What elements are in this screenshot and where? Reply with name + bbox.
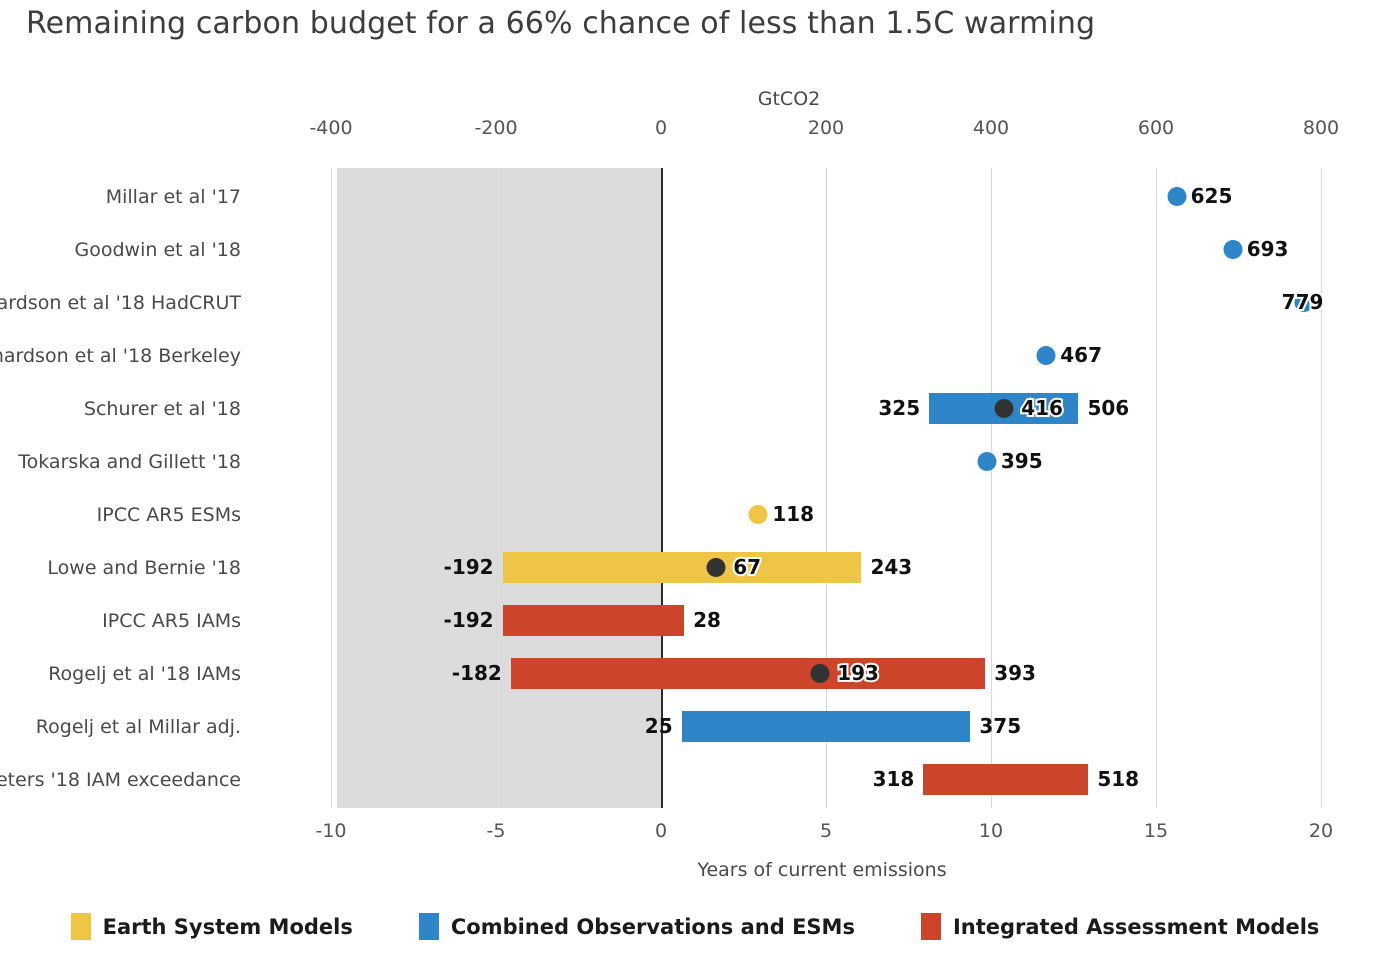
bottom-axis-tick: -10	[315, 820, 346, 842]
estimate-dot[interactable]	[1167, 187, 1186, 206]
estimate-value: 779	[1282, 290, 1324, 314]
category-label: Peters '18 IAM exceedance	[0, 769, 241, 791]
category-label: IPCC AR5 ESMs	[0, 504, 241, 526]
bottom-axis-tick: 5	[820, 820, 832, 842]
legend-swatch-icon	[71, 913, 91, 940]
carbon-budget-chart: Remaining carbon budget for a 66% chance…	[0, 0, 1390, 974]
chart-row[interactable]: IPCC AR5 IAMs-19228	[337, 594, 1308, 647]
legend-item-iam[interactable]: Integrated Assessment Models	[921, 913, 1319, 940]
category-label: IPCC AR5 IAMs	[0, 610, 241, 632]
chart-row[interactable]: IPCC AR5 ESMs118	[337, 488, 1308, 541]
estimate-dot[interactable]	[977, 452, 996, 471]
estimate-value: 118	[772, 502, 814, 526]
category-label: Schurer et al '18	[0, 398, 241, 420]
bottom-axis-tick: 15	[1144, 820, 1168, 842]
estimate-value: 693	[1247, 237, 1289, 261]
top-axis-tick: 200	[808, 117, 844, 139]
range-low-value: -182	[452, 661, 502, 685]
central-estimate-value: 67	[733, 555, 761, 579]
range-bar[interactable]	[511, 658, 985, 689]
legend-label: Integrated Assessment Models	[953, 915, 1319, 939]
range-bar[interactable]	[923, 764, 1088, 795]
plot-area: Millar et al '17625Goodwin et al '18693R…	[337, 168, 1308, 808]
range-bar[interactable]	[682, 711, 971, 742]
legend-item-esm[interactable]: Earth System Models	[71, 913, 353, 940]
chart-row[interactable]: Millar et al '17625	[337, 170, 1308, 223]
top-axis-tick: 0	[655, 117, 667, 139]
central-estimate-dot[interactable]	[995, 399, 1014, 418]
bottom-axis-tick: 0	[655, 820, 667, 842]
range-high-value: 28	[693, 608, 721, 632]
range-high-value: 375	[979, 714, 1021, 738]
range-low-value: 318	[873, 767, 915, 791]
chart-row[interactable]: Tokarska and Gillett '18395	[337, 435, 1308, 488]
estimate-value: 625	[1191, 184, 1233, 208]
chart-row[interactable]: Richardson et al '18 HadCRUT779	[337, 276, 1308, 329]
chart-legend: Earth System ModelsCombined Observations…	[0, 913, 1390, 940]
central-estimate-dot[interactable]	[707, 558, 726, 577]
central-estimate-dot[interactable]	[811, 664, 830, 683]
gridline	[331, 168, 332, 808]
chart-row[interactable]: Lowe and Bernie '18-19224367	[337, 541, 1308, 594]
bottom-axis-tick: -5	[487, 820, 506, 842]
category-label: Lowe and Bernie '18	[0, 557, 241, 579]
range-low-value: -192	[444, 555, 494, 579]
estimate-value: 467	[1060, 343, 1102, 367]
range-high-value: 506	[1087, 396, 1129, 420]
legend-label: Combined Observations and ESMs	[451, 915, 855, 939]
top-axis-unit-label: GtCO2	[758, 88, 820, 110]
legend-swatch-icon	[419, 913, 439, 940]
category-label: Tokarska and Gillett '18	[0, 451, 241, 473]
category-label: Richardson et al '18 Berkeley	[0, 345, 241, 367]
chart-row[interactable]: Rogelj et al Millar adj.25375	[337, 700, 1308, 753]
category-label: Millar et al '17	[0, 186, 241, 208]
chart-row[interactable]: Richardson et al '18 Berkeley467	[337, 329, 1308, 382]
estimate-value: 395	[1001, 449, 1043, 473]
chart-row[interactable]: Schurer et al '18325506416	[337, 382, 1308, 435]
legend-label: Earth System Models	[103, 915, 353, 939]
range-bar[interactable]	[503, 605, 685, 636]
top-axis-tick: -200	[474, 117, 517, 139]
range-low-value: -192	[444, 608, 494, 632]
range-high-value: 393	[994, 661, 1036, 685]
category-label: Rogelj et al Millar adj.	[0, 716, 241, 738]
estimate-dot[interactable]	[749, 505, 768, 524]
chart-row[interactable]: Peters '18 IAM exceedance318518	[337, 753, 1308, 806]
top-axis-tick: -400	[309, 117, 352, 139]
top-axis-tick: 600	[1138, 117, 1174, 139]
estimate-dot[interactable]	[1037, 346, 1056, 365]
estimate-dot[interactable]	[1223, 240, 1242, 259]
x-axis-title: Years of current emissions	[697, 859, 946, 881]
legend-swatch-icon	[921, 913, 941, 940]
range-bar[interactable]	[503, 552, 862, 583]
legend-item-obs_esm[interactable]: Combined Observations and ESMs	[419, 913, 855, 940]
bottom-axis-tick: 10	[979, 820, 1003, 842]
category-label: Goodwin et al '18	[0, 239, 241, 261]
top-axis-tick: 800	[1303, 117, 1339, 139]
range-low-value: 325	[878, 396, 920, 420]
category-label: Rogelj et al '18 IAMs	[0, 663, 241, 685]
central-estimate-value: 193	[837, 661, 879, 685]
category-label: Richardson et al '18 HadCRUT	[0, 292, 241, 314]
chart-title: Remaining carbon budget for a 66% chance…	[26, 6, 1095, 41]
range-high-value: 518	[1097, 767, 1139, 791]
chart-row[interactable]: Rogelj et al '18 IAMs-182393193	[337, 647, 1308, 700]
central-estimate-value: 416	[1021, 396, 1063, 420]
range-low-value: 25	[645, 714, 673, 738]
gridline	[1321, 168, 1322, 808]
top-axis-tick: 400	[973, 117, 1009, 139]
chart-row[interactable]: Goodwin et al '18693	[337, 223, 1308, 276]
bottom-axis-tick: 20	[1309, 820, 1333, 842]
range-high-value: 243	[870, 555, 912, 579]
